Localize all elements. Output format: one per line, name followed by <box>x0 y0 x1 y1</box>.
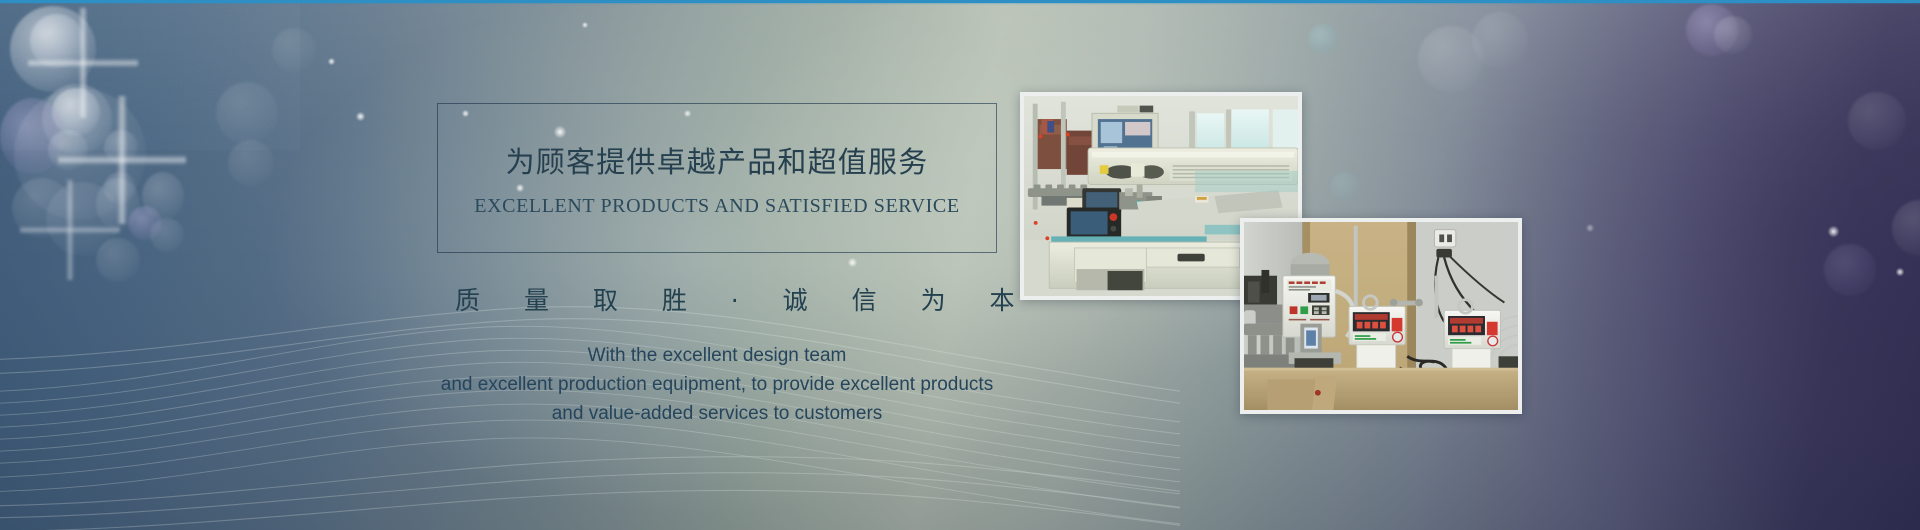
company-banner: 为顾客提供卓越产品和超值服务 EXCELLENT PRODUCTS AND SA… <box>0 0 1920 530</box>
headline-english: EXCELLENT PRODUCTS AND SATISFIED SERVICE <box>474 195 959 218</box>
headline-chinese: 为顾客提供卓越产品和超值服务 <box>506 139 929 181</box>
bokeh-circle <box>142 172 184 220</box>
top-accent-rule <box>0 0 1920 3</box>
bokeh-circle <box>1892 200 1920 256</box>
banner-copy-block: 为顾客提供卓越产品和超值服务 EXCELLENT PRODUCTS AND SA… <box>437 103 997 428</box>
bokeh-sparkle <box>1896 268 1904 276</box>
blurb-line-3: and value-added services to customers <box>437 399 997 428</box>
bokeh-sparkle <box>1828 226 1839 237</box>
bokeh-sparkle <box>1586 224 1594 232</box>
bokeh-circle <box>1848 92 1906 150</box>
bokeh-circle <box>1472 12 1528 68</box>
slogan-chinese: 质 量 取 胜 · 诚 信 为 本 <box>437 281 997 317</box>
photo-crimp-presses <box>1240 218 1522 414</box>
bokeh-circle <box>96 238 140 282</box>
bokeh-sparkle <box>328 58 335 65</box>
bokeh-circle <box>1330 172 1360 202</box>
bokeh-sparkle <box>582 22 588 28</box>
bokeh-circle <box>1714 16 1752 54</box>
blurb-line-1: With the excellent design team <box>437 341 997 370</box>
bokeh-circle <box>1308 24 1338 54</box>
photo-crimp-presses-image <box>1244 222 1518 410</box>
bokeh-circle <box>150 218 184 252</box>
blurb-line-2: and excellent production equipment, to p… <box>437 370 997 399</box>
bokeh-circle <box>1824 244 1876 296</box>
headline-frame: 为顾客提供卓越产品和超值服务 EXCELLENT PRODUCTS AND SA… <box>437 103 997 253</box>
bokeh-sparkle <box>356 112 365 121</box>
blurb-paragraph: With the excellent design team and excel… <box>437 341 997 428</box>
background-grain-texture <box>0 0 300 150</box>
